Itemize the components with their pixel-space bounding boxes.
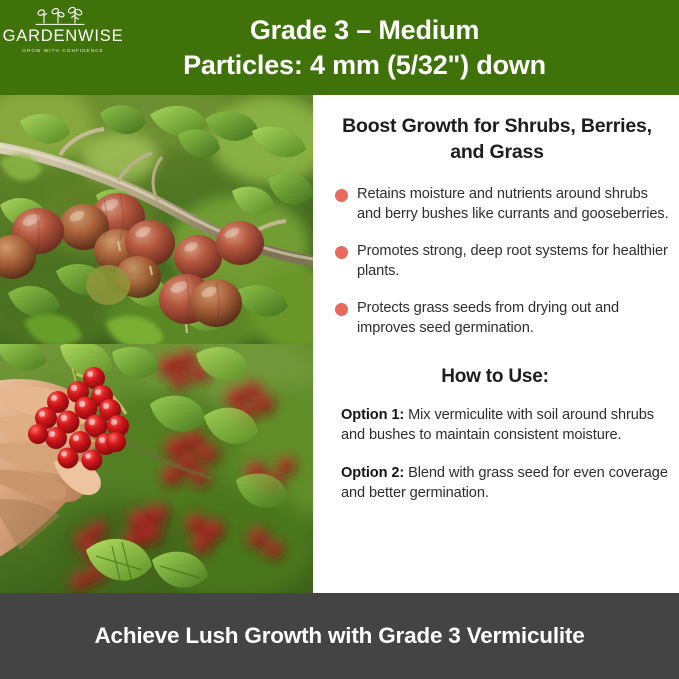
bullet-dot-icon (335, 303, 348, 316)
option-1: Option 1: Mix vermiculite with soil arou… (335, 406, 673, 446)
how-to-use-heading: How to Use: (335, 366, 673, 388)
list-item: Retains moisture and nutrients around sh… (335, 185, 673, 225)
product-infographic: GARDENWISE GROW WITH CONFIDENCE Grade 3 … (0, 0, 679, 679)
header-title-line-1: Grade 3 – Medium (250, 15, 479, 45)
bullet-text: Retains moisture and nutrients around sh… (357, 185, 673, 225)
header-banner: GARDENWISE GROW WITH CONFIDENCE Grade 3 … (0, 0, 679, 95)
photo-column (0, 95, 313, 593)
main-content-row: Boost Growth for Shrubs, Berries, and Gr… (0, 95, 679, 593)
three-sprouts-icon (32, 6, 94, 28)
list-item: Protects grass seeds from drying out and… (335, 299, 673, 339)
list-item: Promotes strong, deep root systems for h… (335, 242, 673, 282)
bullet-text: Protects grass seeds from drying out and… (357, 299, 673, 339)
option-2: Option 2: Blend with grass seed for even… (335, 464, 673, 504)
bullet-text: Promotes strong, deep root systems for h… (357, 242, 673, 282)
gooseberries-on-branch-photo (0, 95, 313, 344)
footer-text: Achieve Lush Growth with Grade 3 Vermicu… (80, 621, 600, 651)
option-2-label: Option 2: (341, 465, 404, 481)
content-heading: Boost Growth for Shrubs, Berries, and Gr… (335, 114, 673, 165)
gooseberry-illustration (0, 95, 313, 344)
bullet-dot-icon (335, 189, 348, 202)
bullet-dot-icon (335, 246, 348, 259)
option-1-label: Option 1: (341, 407, 404, 423)
footer-banner: Achieve Lush Growth with Grade 3 Vermicu… (0, 593, 679, 679)
brand-logo: GARDENWISE GROW WITH CONFIDENCE (8, 6, 118, 53)
header-title-line-2: Particles: 4 mm (5/32") down (85, 48, 645, 83)
benefits-list: Retains moisture and nutrients around sh… (335, 185, 673, 356)
text-column: Boost Growth for Shrubs, Berries, and Gr… (313, 95, 679, 593)
hand-picking-red-currants-photo (0, 344, 313, 593)
logo-tagline: GROW WITH CONFIDENCE (22, 48, 103, 53)
header-title: Grade 3 – Medium Particles: 4 mm (5/32")… (85, 13, 645, 82)
logo-wordmark: GARDENWISE (3, 28, 124, 45)
red-currant-illustration (0, 344, 313, 593)
